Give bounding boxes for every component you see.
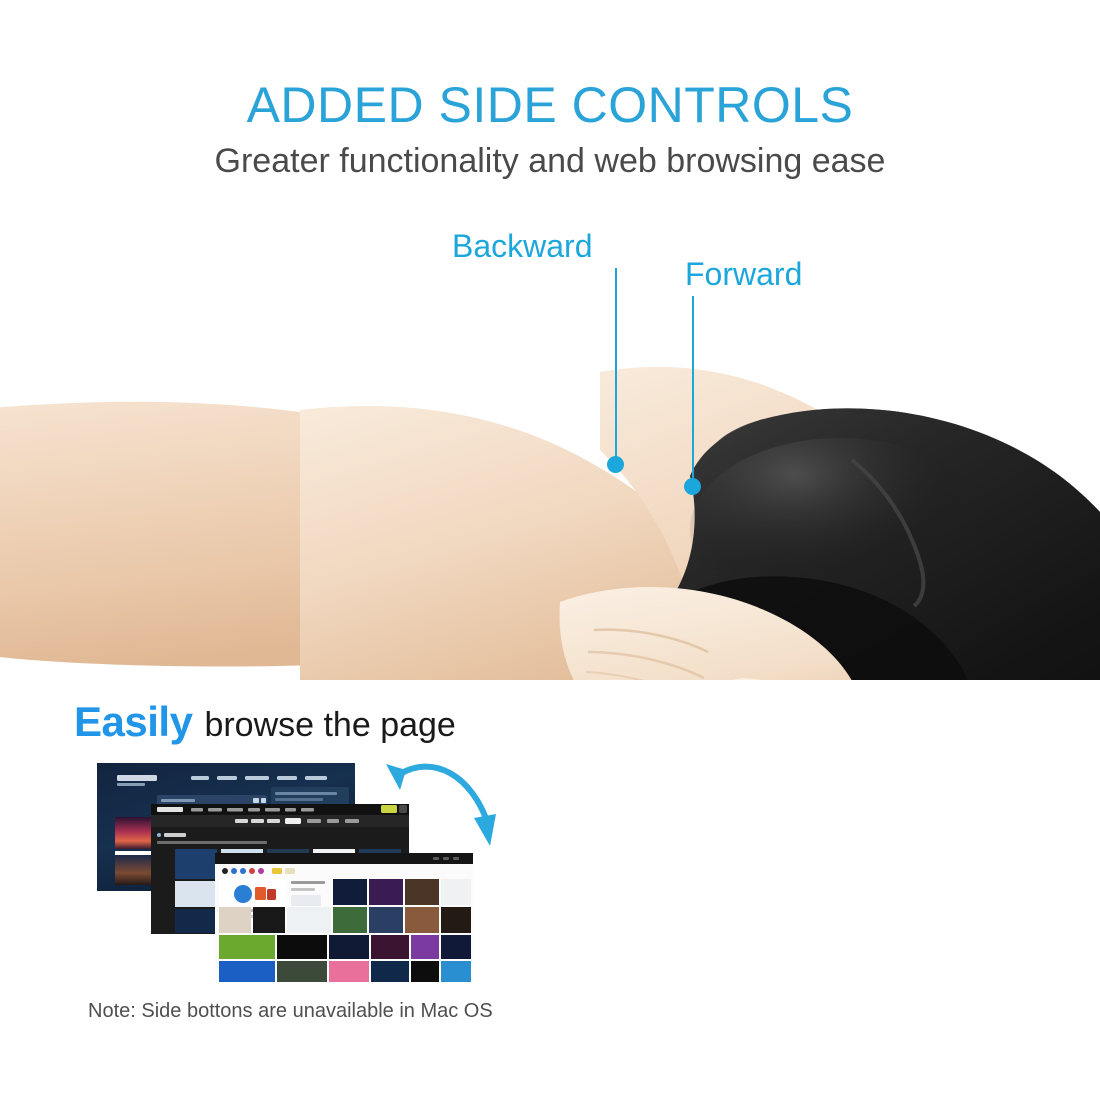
hero-product-photo — [0, 280, 1100, 680]
easily-emphasis-word: Easily — [74, 698, 192, 745]
leader-dot-forward — [684, 478, 701, 495]
page-flip-arrow — [376, 748, 511, 863]
easily-browse-heading: Easilybrowse the page — [74, 698, 456, 746]
leader-line-forward — [692, 296, 694, 486]
app-icon — [234, 885, 252, 903]
leader-dot-backward — [607, 456, 624, 473]
callout-label-backward: Backward — [452, 228, 593, 265]
product-feature-page: ADDED SIDE CONTROLS Greater functionalit… — [0, 0, 1100, 1100]
mac-os-note: Note: Side bottons are unavailable in Ma… — [88, 1000, 493, 1023]
hand-and-mouse-illustration — [0, 280, 1100, 680]
callout-label-forward: Forward — [685, 256, 802, 293]
browser-window-front[interactable] — [215, 853, 473, 982]
page-subtitle: Greater functionality and web browsing e… — [0, 142, 1100, 181]
page-title: ADDED SIDE CONTROLS — [0, 76, 1100, 134]
leader-line-backward — [615, 268, 617, 464]
double-headed-curved-arrow-icon — [376, 748, 511, 863]
easily-rest-text: browse the page — [204, 706, 455, 744]
